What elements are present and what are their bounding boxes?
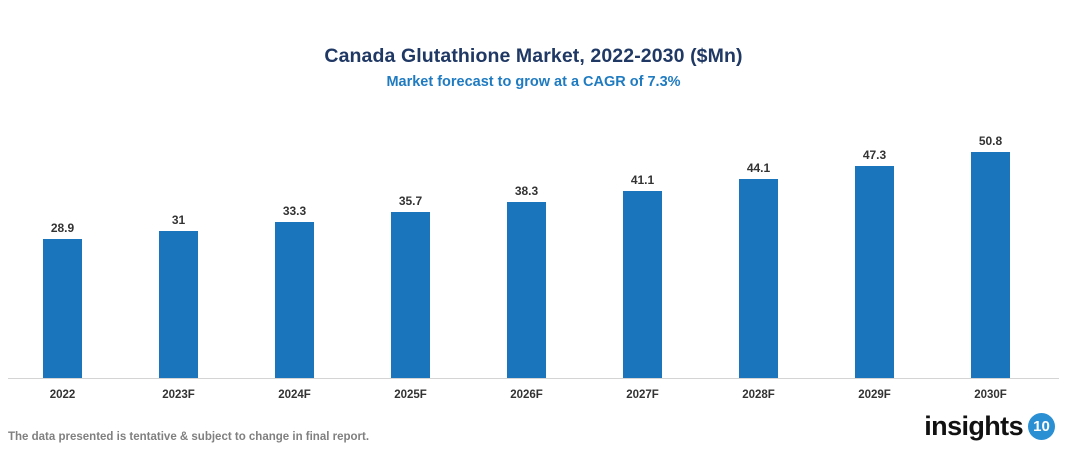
disclaimer-text: The data presented is tentative & subjec…: [8, 430, 369, 444]
plot-area: 28.92022312023F33.32024F35.72025F38.3202…: [0, 0, 1067, 454]
bar[interactable]: [971, 152, 1010, 378]
bar-value-label: 28.9: [19, 221, 106, 235]
x-axis-category-label: 2028F: [712, 388, 805, 402]
x-axis-category-label: 2030F: [944, 388, 1037, 402]
x-axis-category-label: 2026F: [480, 388, 573, 402]
bar-value-label: 50.8: [947, 134, 1034, 148]
bar[interactable]: [391, 212, 430, 378]
bar-value-label: 38.3: [483, 184, 570, 198]
bar-value-label: 44.1: [715, 161, 802, 175]
x-axis-category-label: 2023F: [132, 388, 225, 402]
bar[interactable]: [159, 231, 198, 378]
bar-group: 312023F: [159, 0, 198, 454]
x-axis-category-label: 2024F: [248, 388, 341, 402]
x-axis-category-label: 2027F: [596, 388, 689, 402]
bar-group: 35.72025F: [391, 0, 430, 454]
bar[interactable]: [275, 222, 314, 378]
insights10-logo: insights 10: [924, 409, 1055, 443]
bar-group: 44.12028F: [739, 0, 778, 454]
bar[interactable]: [623, 191, 662, 378]
bar-value-label: 31: [135, 213, 222, 227]
bar-value-label: 35.7: [367, 194, 454, 208]
logo-badge-icon: 10: [1028, 413, 1055, 440]
bar-group: 38.32026F: [507, 0, 546, 454]
x-axis-category-label: 2029F: [828, 388, 921, 402]
bar-group: 28.92022: [43, 0, 82, 454]
bar-value-label: 33.3: [251, 204, 338, 218]
bar-group: 33.32024F: [275, 0, 314, 454]
bar-value-label: 41.1: [599, 173, 686, 187]
x-axis-category-label: 2025F: [364, 388, 457, 402]
logo-wordmark: insights: [924, 411, 1023, 441]
bar-group: 47.32029F: [855, 0, 894, 454]
bar-group: 41.12027F: [623, 0, 662, 454]
bar-value-label: 47.3: [831, 148, 918, 162]
bar-group: 50.82030F: [971, 0, 1010, 454]
bar[interactable]: [739, 179, 778, 378]
x-axis-category-label: 2022: [16, 388, 109, 402]
bar[interactable]: [507, 202, 546, 378]
chart-container: Canada Glutathione Market, 2022-2030 ($M…: [0, 0, 1067, 454]
bar[interactable]: [855, 166, 894, 378]
bar[interactable]: [43, 239, 82, 378]
